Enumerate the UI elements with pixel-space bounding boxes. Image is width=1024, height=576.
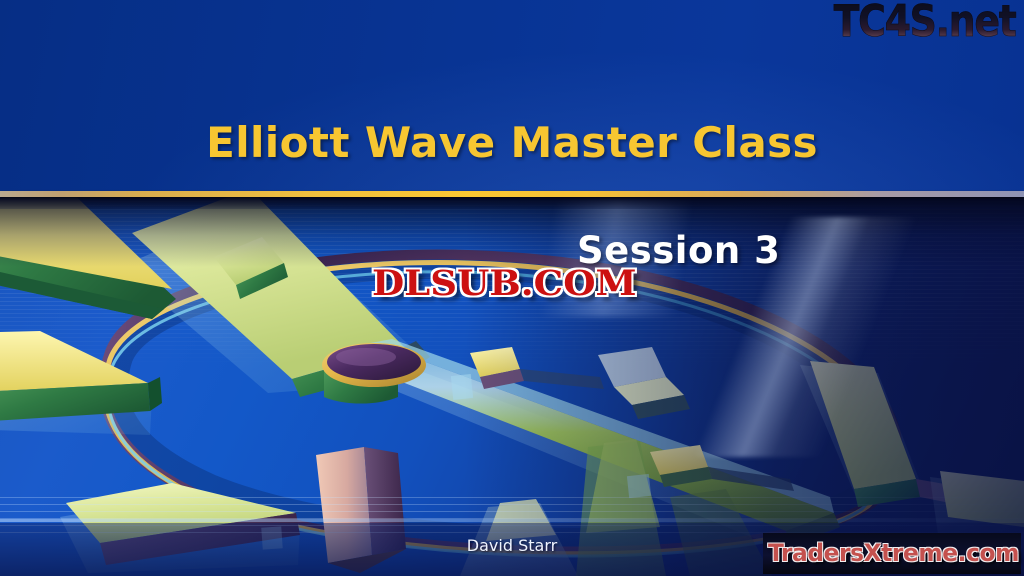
- watermark-dlsub: DLSUB.COM: [372, 263, 637, 304]
- slide-title: Elliott Wave Master Class: [0, 118, 1024, 167]
- watermark-tradersxtreme: TradersXtreme.com: [768, 539, 1019, 567]
- divider-shadow: [0, 197, 1024, 209]
- gold-divider-rule: [0, 191, 1024, 197]
- watermark-tradersxtreme-box: TradersXtreme.com: [763, 533, 1021, 574]
- presentation-slide: Elliott Wave Master Class Session 3 Davi…: [0, 0, 1024, 576]
- slide-artwork-stage: [0, 197, 1024, 576]
- watermark-tc4s: TC4S.net: [834, 0, 1016, 47]
